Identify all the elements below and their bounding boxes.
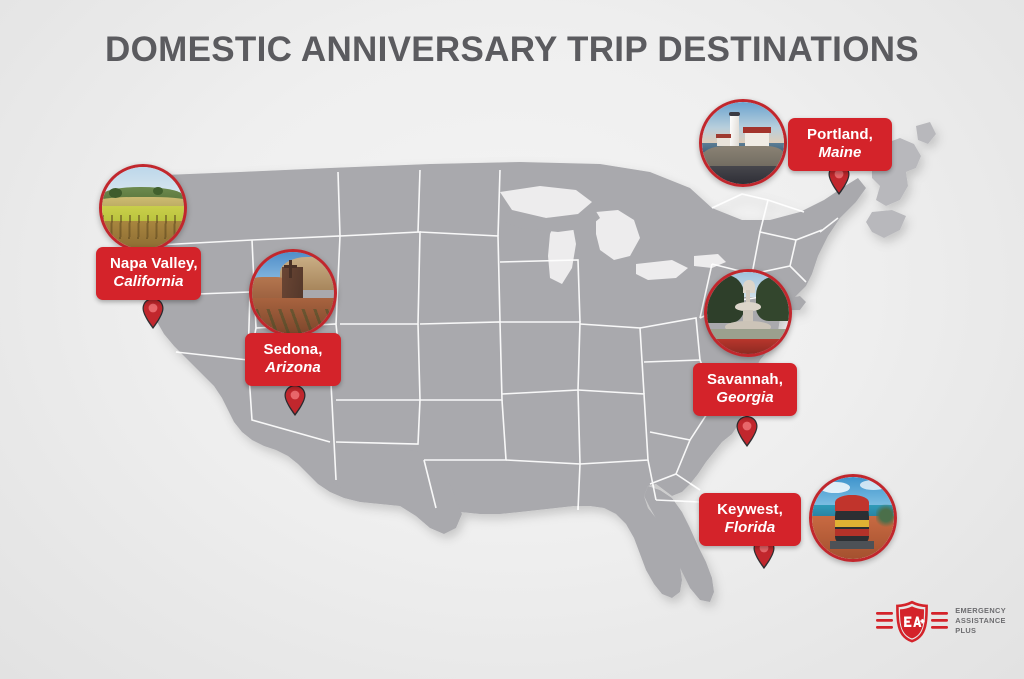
label-portland-city: Portland,: [802, 127, 878, 143]
photo-portland: [699, 99, 787, 187]
chapel-cross-vertical: [289, 260, 292, 278]
ea-plus-shield-icon: [876, 599, 948, 643]
lighthouse-lantern: [729, 112, 740, 116]
tree-left: [109, 188, 122, 198]
palm-foliage: [876, 502, 894, 530]
label-keywest-city: Keywest,: [713, 502, 787, 518]
brand-line-2: ASSISTANCE: [955, 616, 1006, 626]
brand-line-3: PLUS: [955, 626, 1006, 636]
buoy-red-band: [835, 495, 869, 511]
photo-keywest: [809, 474, 897, 562]
label-sedona[interactable]: Sedona, Arizona: [245, 333, 341, 386]
keeper-house-roof: [743, 127, 771, 133]
lighthouse-tower: [730, 113, 739, 147]
photo-portland-scene: [702, 102, 784, 184]
photo-savannah: [704, 269, 792, 357]
label-savannah[interactable]: Savannah, Georgia: [693, 363, 797, 416]
red-flowerbed: [707, 339, 789, 354]
photo-sedona: [249, 249, 337, 337]
label-sedona-city: Sedona,: [259, 342, 327, 358]
chapel-cross-horizontal: [284, 265, 297, 268]
photo-napa-valley-scene: [102, 167, 184, 249]
map-pin-savannah[interactable]: [735, 415, 759, 448]
sky-layer: [702, 102, 784, 145]
photo-napa-valley: [99, 164, 187, 252]
label-savannah-state: Georgia: [707, 390, 783, 406]
brand-logo[interactable]: EMERGENCY ASSISTANCE PLUS: [876, 599, 1006, 643]
dark-rocks-foreground: [702, 166, 784, 184]
nova-scotia: [866, 210, 906, 238]
label-sedona-state: Arizona: [259, 360, 327, 376]
label-savannah-city: Savannah,: [707, 372, 783, 388]
outbuilding-roof: [716, 134, 731, 138]
map-pin-sedona[interactable]: [283, 384, 307, 417]
tree-right: [153, 187, 163, 195]
scrub-brush-layer: [252, 309, 334, 334]
label-napa-valley-city: Napa Valley,: [110, 256, 187, 272]
brand-logo-text: EMERGENCY ASSISTANCE PLUS: [955, 606, 1006, 635]
buoy-yellow-band: [835, 520, 869, 527]
buoy-base: [830, 541, 874, 549]
photo-keywest-scene: [812, 477, 894, 559]
vine-rows-layer: [102, 215, 184, 240]
label-portland-state: Maine: [802, 145, 878, 161]
label-napa-valley[interactable]: Napa Valley, California: [96, 247, 201, 300]
label-keywest-state: Florida: [713, 520, 787, 536]
buoy-lower-red-band: [835, 529, 869, 536]
label-portland[interactable]: Portland, Maine: [788, 118, 892, 171]
label-napa-valley-state: California: [110, 274, 187, 290]
brand-line-1: EMERGENCY: [955, 606, 1006, 616]
label-keywest[interactable]: Keywest, Florida: [699, 493, 801, 546]
map-pin-napa-valley[interactable]: [141, 297, 165, 330]
photo-savannah-scene: [707, 272, 789, 354]
infographic-canvas: DOMESTIC ANNIVERSARY TRIP DESTINATIONS: [0, 0, 1024, 679]
tree-canopy-left: [707, 275, 744, 323]
photo-sedona-scene: [252, 252, 334, 334]
newfoundland-tip: [916, 122, 936, 144]
tree-canopy-right: [756, 277, 789, 321]
